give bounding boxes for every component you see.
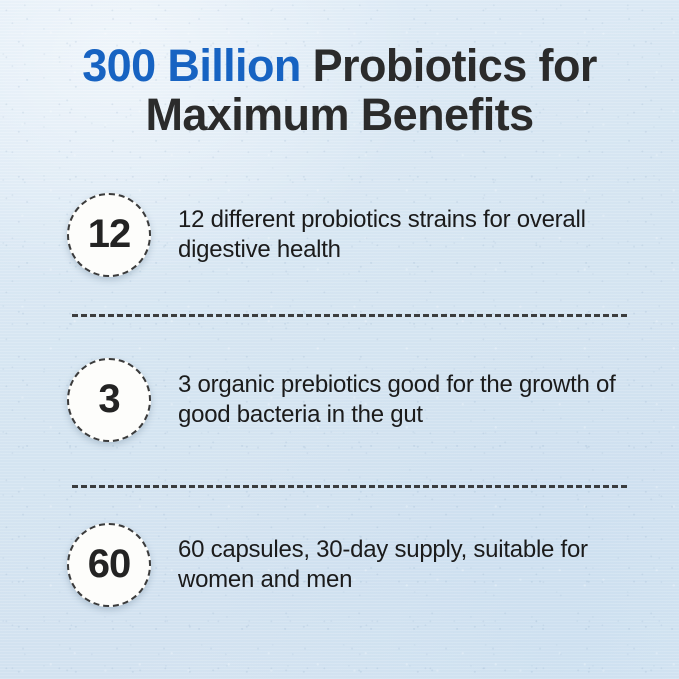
infographic-poster: 300 Billion Probiotics for Maximum Benef… (0, 0, 679, 679)
badge-circle-2: 3 (67, 358, 151, 442)
badge-number-3: 60 (88, 544, 131, 584)
divider-2 (72, 485, 627, 488)
feature-row-3: 60 60 capsules, 30-day supply, suitable … (67, 523, 649, 607)
headline-accent: 300 Billion (82, 40, 300, 91)
headline-rest-line1: Probiotics for (301, 40, 597, 91)
divider-1 (72, 314, 627, 317)
headline-line2: Maximum Benefits (34, 90, 645, 139)
feature-row-2: 3 3 organic prebiotics good for the grow… (67, 358, 649, 442)
badge-number-2: 3 (98, 379, 119, 419)
feature-text-2: 3 organic prebiotics good for the growth… (178, 370, 649, 430)
badge-circle-1: 12 (67, 193, 151, 277)
page-title: 300 Billion Probiotics for Maximum Benef… (0, 41, 679, 139)
feature-row-1: 12 12 different probiotics strains for o… (67, 193, 649, 277)
feature-text-1: 12 different probiotics strains for over… (178, 205, 649, 265)
feature-text-3: 60 capsules, 30-day supply, suitable for… (178, 535, 649, 595)
badge-number-1: 12 (88, 214, 131, 254)
badge-circle-3: 60 (67, 523, 151, 607)
poster-content: 300 Billion Probiotics for Maximum Benef… (0, 0, 679, 679)
